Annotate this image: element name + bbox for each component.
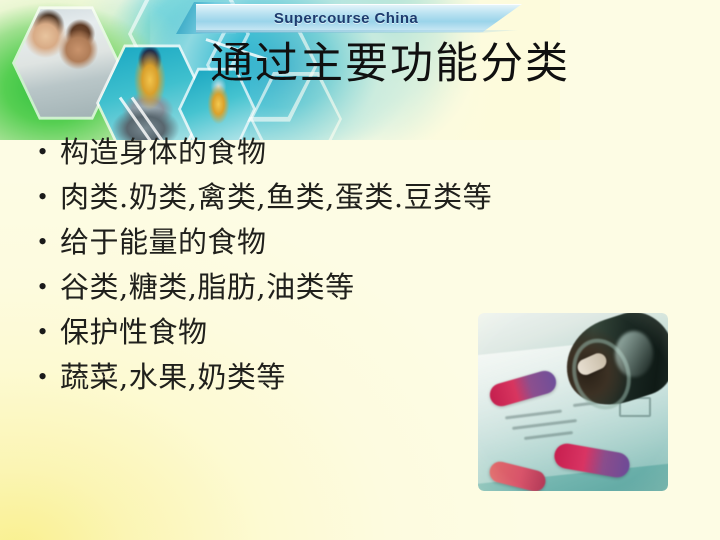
bullet-dot-icon: • xyxy=(38,357,60,397)
slide-title: 通过主要功能分类 xyxy=(120,40,660,90)
bullet-dot-icon: • xyxy=(38,267,60,307)
medical-staff-photo xyxy=(15,7,117,119)
presentation-slide: Supercourse China 通过主要功能分类 • 构造身体的食物 • 肉… xyxy=(0,0,720,540)
list-item-label: 蔬菜,水果,奶类等 xyxy=(60,357,286,397)
list-item-label: 给于能量的食物 xyxy=(60,222,267,262)
list-item-label: 肉类.奶类,禽类,鱼类,蛋类.豆类等 xyxy=(60,177,492,217)
medical-staff-photo-hexagon xyxy=(12,4,120,122)
list-item-label: 谷类,糖类,脂肪,油类等 xyxy=(60,267,355,307)
bullet-dot-icon: • xyxy=(38,177,60,217)
list-item: • 谷类,糖类,脂肪,油类等 xyxy=(38,267,638,312)
list-item: • 给于能量的食物 xyxy=(38,222,638,267)
bullet-dot-icon: • xyxy=(38,312,60,352)
list-item: • 构造身体的食物 xyxy=(38,132,638,177)
bullet-dot-icon: • xyxy=(38,132,60,172)
list-item: • 肉类.奶类,禽类,鱼类,蛋类.豆类等 xyxy=(38,177,638,222)
bullet-dot-icon: • xyxy=(38,222,60,262)
pill-bottle-prescription-photo xyxy=(478,313,668,491)
list-item-label: 保护性食物 xyxy=(60,312,208,352)
banner-label: Supercourse China xyxy=(196,4,496,32)
list-item-label: 构造身体的食物 xyxy=(60,132,267,172)
pill-bottle-highlight xyxy=(615,331,653,377)
